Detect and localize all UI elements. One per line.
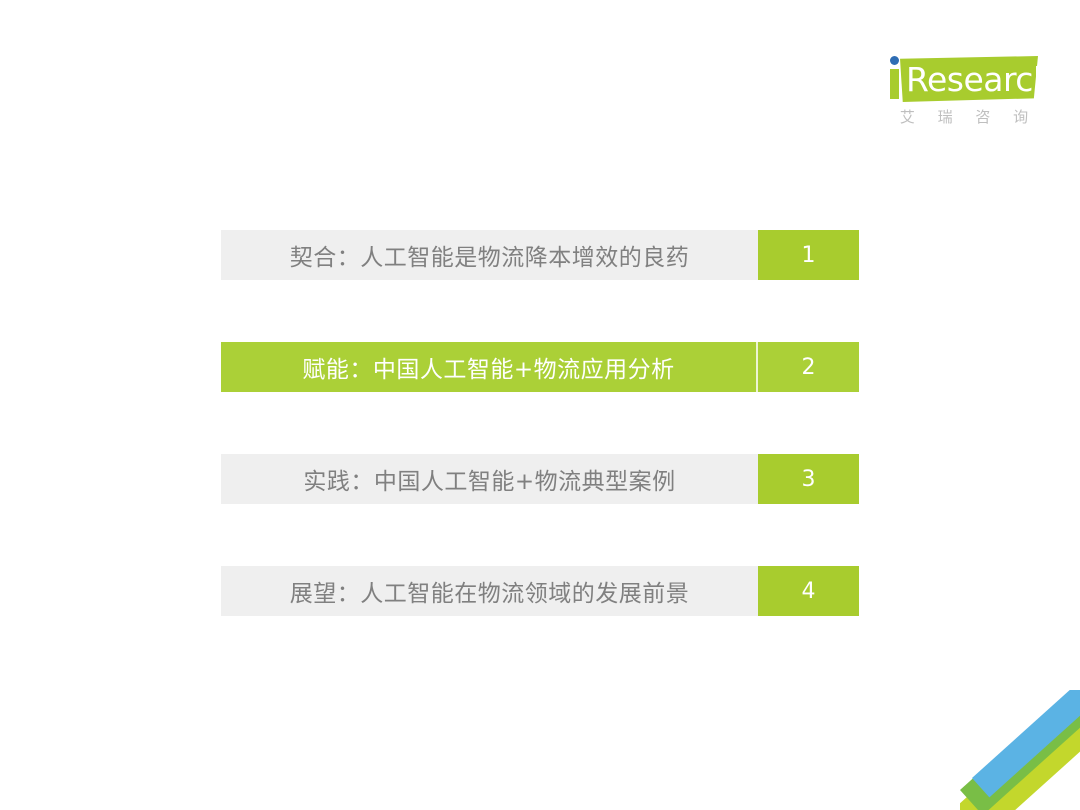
agenda-row-2-label: 赋能：中国人工智能+物流应用分析 bbox=[221, 342, 756, 392]
logo-wordmark: Research bbox=[906, 60, 1036, 100]
agenda-row-2-number: 2 bbox=[756, 342, 859, 392]
logo-i-dot-icon bbox=[890, 56, 899, 65]
slide-canvas: Research 艾 瑞 咨 询 契合：人工智能是物流降本增效的良药 1 赋能：… bbox=[0, 0, 1080, 810]
agenda-row-3-number: 3 bbox=[758, 454, 859, 504]
logo-i-stem-icon bbox=[890, 69, 899, 99]
iresearch-logo: Research 艾 瑞 咨 询 bbox=[878, 48, 1038, 136]
agenda-row-3[interactable]: 实践：中国人工智能+物流典型案例 3 bbox=[221, 454, 859, 504]
agenda-row-1[interactable]: 契合：人工智能是物流降本增效的良药 1 bbox=[221, 230, 859, 280]
agenda-row-2[interactable]: 赋能：中国人工智能+物流应用分析 2 bbox=[221, 342, 859, 392]
agenda-row-1-label: 契合：人工智能是物流降本增效的良药 bbox=[221, 230, 758, 280]
agenda-row-4-label: 展望：人工智能在物流领域的发展前景 bbox=[221, 566, 758, 616]
page-number: 7 bbox=[1051, 778, 1064, 802]
agenda-row-4-number: 4 bbox=[758, 566, 859, 616]
agenda-row-1-number: 1 bbox=[758, 230, 859, 280]
agenda-row-3-label: 实践：中国人工智能+物流典型案例 bbox=[221, 454, 758, 504]
agenda-list: 契合：人工智能是物流降本增效的良药 1 赋能：中国人工智能+物流应用分析 2 实… bbox=[221, 230, 859, 616]
logo-chinese-subtitle: 艾 瑞 咨 询 bbox=[890, 106, 1038, 127]
agenda-row-4[interactable]: 展望：人工智能在物流领域的发展前景 4 bbox=[221, 566, 859, 616]
